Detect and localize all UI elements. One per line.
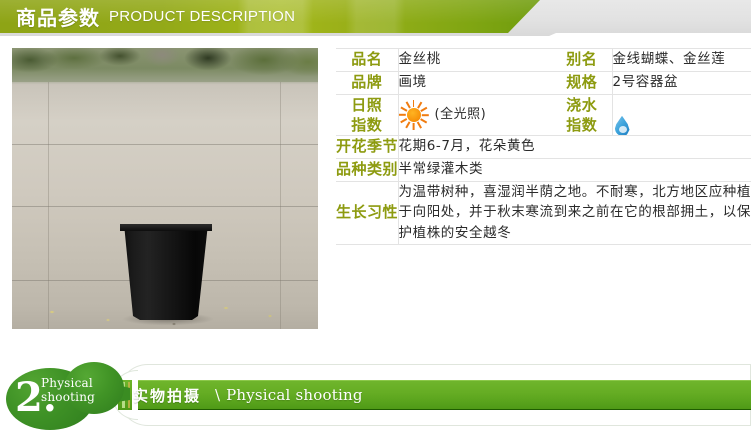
- spec-label-pinming: 品名: [336, 49, 398, 72]
- section-header: 商品参数 PRODUCT DESCRIPTION: [0, 0, 751, 40]
- spec-label-line1: 浇水: [552, 95, 612, 115]
- section-title-separator: \: [215, 386, 220, 404]
- spec-label-bieming: 别名: [552, 49, 612, 72]
- table-row: 品种类别 半常绿灌木类: [336, 158, 751, 181]
- sun-icon: [399, 100, 429, 130]
- spec-value-growth-habit: 为温带树种，喜湿润半荫之地。不耐寒，北方地区应种植于向阳处，并于秋末寒流到来之前…: [398, 181, 751, 245]
- photo-pot-rim: [120, 224, 212, 231]
- section-physical-shooting: 实物拍摄 \ Physical shooting 2. Physical sho…: [0, 358, 751, 433]
- spec-label-line2: 指数: [552, 115, 612, 135]
- step-label-en: Physical shooting: [41, 376, 95, 404]
- water-drop-highlight: [619, 126, 627, 133]
- spec-label-guige: 规格: [552, 71, 612, 94]
- sun-core: [407, 108, 421, 122]
- table-row: 生长习性 为温带树种，喜湿润半荫之地。不耐寒，北方地区应种植于向阳处，并于秋末寒…: [336, 181, 751, 245]
- page-title-en: PRODUCT DESCRIPTION: [109, 8, 295, 25]
- spec-label-growth-habit: 生长习性: [336, 181, 398, 245]
- spec-label-variety-type: 品种类别: [336, 158, 398, 181]
- section-title-en: Physical shooting: [226, 386, 363, 404]
- page-title-cn: 商品参数: [16, 2, 100, 31]
- spec-label-watering-index: 浇水 指数: [552, 94, 612, 136]
- step-label-en-line1: Physical: [41, 376, 95, 390]
- table-row: 日照 指数: [336, 94, 751, 136]
- header-title-group: 商品参数 PRODUCT DESCRIPTION: [16, 0, 295, 33]
- sunlight-value-group: (全光照): [399, 100, 553, 130]
- spec-label-line2: 指数: [336, 115, 398, 135]
- header-strip-notch: [540, 33, 751, 40]
- spec-label-blooming-season: 开花季节: [336, 136, 398, 159]
- spec-value-sunlight-index: (全光照): [398, 94, 552, 136]
- spec-value-variety-type: 半常绿灌木类: [398, 158, 751, 181]
- section-bar-text-group: 实物拍摄 \ Physical shooting: [133, 380, 363, 410]
- sunlight-note: (全光照): [435, 105, 487, 125]
- spec-value-pinpai: 画境: [398, 71, 552, 94]
- section-title-cn: 实物拍摄: [133, 385, 201, 406]
- product-photo: [12, 48, 318, 329]
- table-row: 开花季节 花期6-7月，花朵黄色: [336, 136, 751, 159]
- photo-fallen-petals: [12, 298, 318, 329]
- spec-value-bieming: 金线蝴蝶、金丝莲: [612, 49, 751, 72]
- product-spec-table: 品名 金丝桃 别名 金线蝴蝶、金丝莲 品牌 画境 规格 2号容器盆 日照 指数: [336, 48, 751, 245]
- spec-value-pinming: 金丝桃: [398, 49, 552, 72]
- product-description-page: 商品参数 PRODUCT DESCRIPTION 品名 金丝桃 别名 金线蝴蝶、…: [0, 0, 751, 433]
- step-badge: 2. Physical shooting: [6, 362, 126, 430]
- spec-label-sunlight-index: 日照 指数: [336, 94, 398, 136]
- spec-value-watering-index: [612, 94, 751, 136]
- spec-label-line1: 日照: [336, 95, 398, 115]
- table-row: 品牌 画境 规格 2号容器盆: [336, 71, 751, 94]
- spec-label-pinpai: 品牌: [336, 71, 398, 94]
- spec-value-guige: 2号容器盆: [612, 71, 751, 94]
- spec-value-blooming-season: 花期6-7月，花朵黄色: [398, 136, 751, 159]
- step-label-en-line2: shooting: [41, 390, 95, 404]
- table-row: 品名 金丝桃 别名 金线蝴蝶、金丝莲: [336, 49, 751, 72]
